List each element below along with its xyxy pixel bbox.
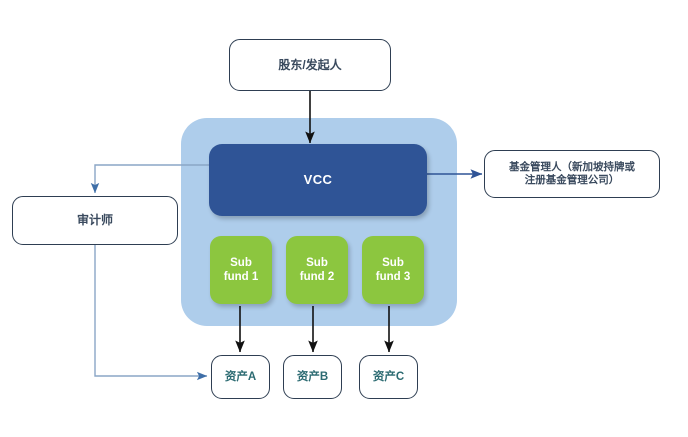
node-vcc[interactable]: VCC [209,144,427,216]
sub-fund-1-line-1: Sub [230,256,252,270]
node-sub-fund-2[interactable]: Sub fund 2 [286,236,348,304]
fund-manager-line-2: 注册基金管理公司） [525,174,620,186]
node-asset-b[interactable]: 资产B [283,355,342,399]
node-sub-fund-1[interactable]: Sub fund 1 [210,236,272,304]
node-auditor[interactable]: 审计师 [12,196,178,245]
sub-fund-2-line-1: Sub [306,256,328,270]
sub-fund-1-line-2: fund 1 [224,270,259,284]
sub-fund-3-line-1: Sub [382,256,404,270]
node-sub-fund-3[interactable]: Sub fund 3 [362,236,424,304]
node-shareholder[interactable]: 股东/发起人 [229,39,391,91]
sub-fund-3-line-2: fund 3 [376,270,411,284]
diagram-canvas: 股东/发起人 VCC 基金管理人（新加坡持牌或 注册基金管理公司） 审计师 Su… [0,0,688,437]
sub-fund-2-line-2: fund 2 [300,270,335,284]
node-asset-a[interactable]: 资产A [211,355,270,399]
fund-manager-line-1: 基金管理人（新加坡持牌或 [509,161,635,173]
node-asset-c[interactable]: 资产C [359,355,418,399]
node-fund-manager[interactable]: 基金管理人（新加坡持牌或 注册基金管理公司） [484,150,660,198]
